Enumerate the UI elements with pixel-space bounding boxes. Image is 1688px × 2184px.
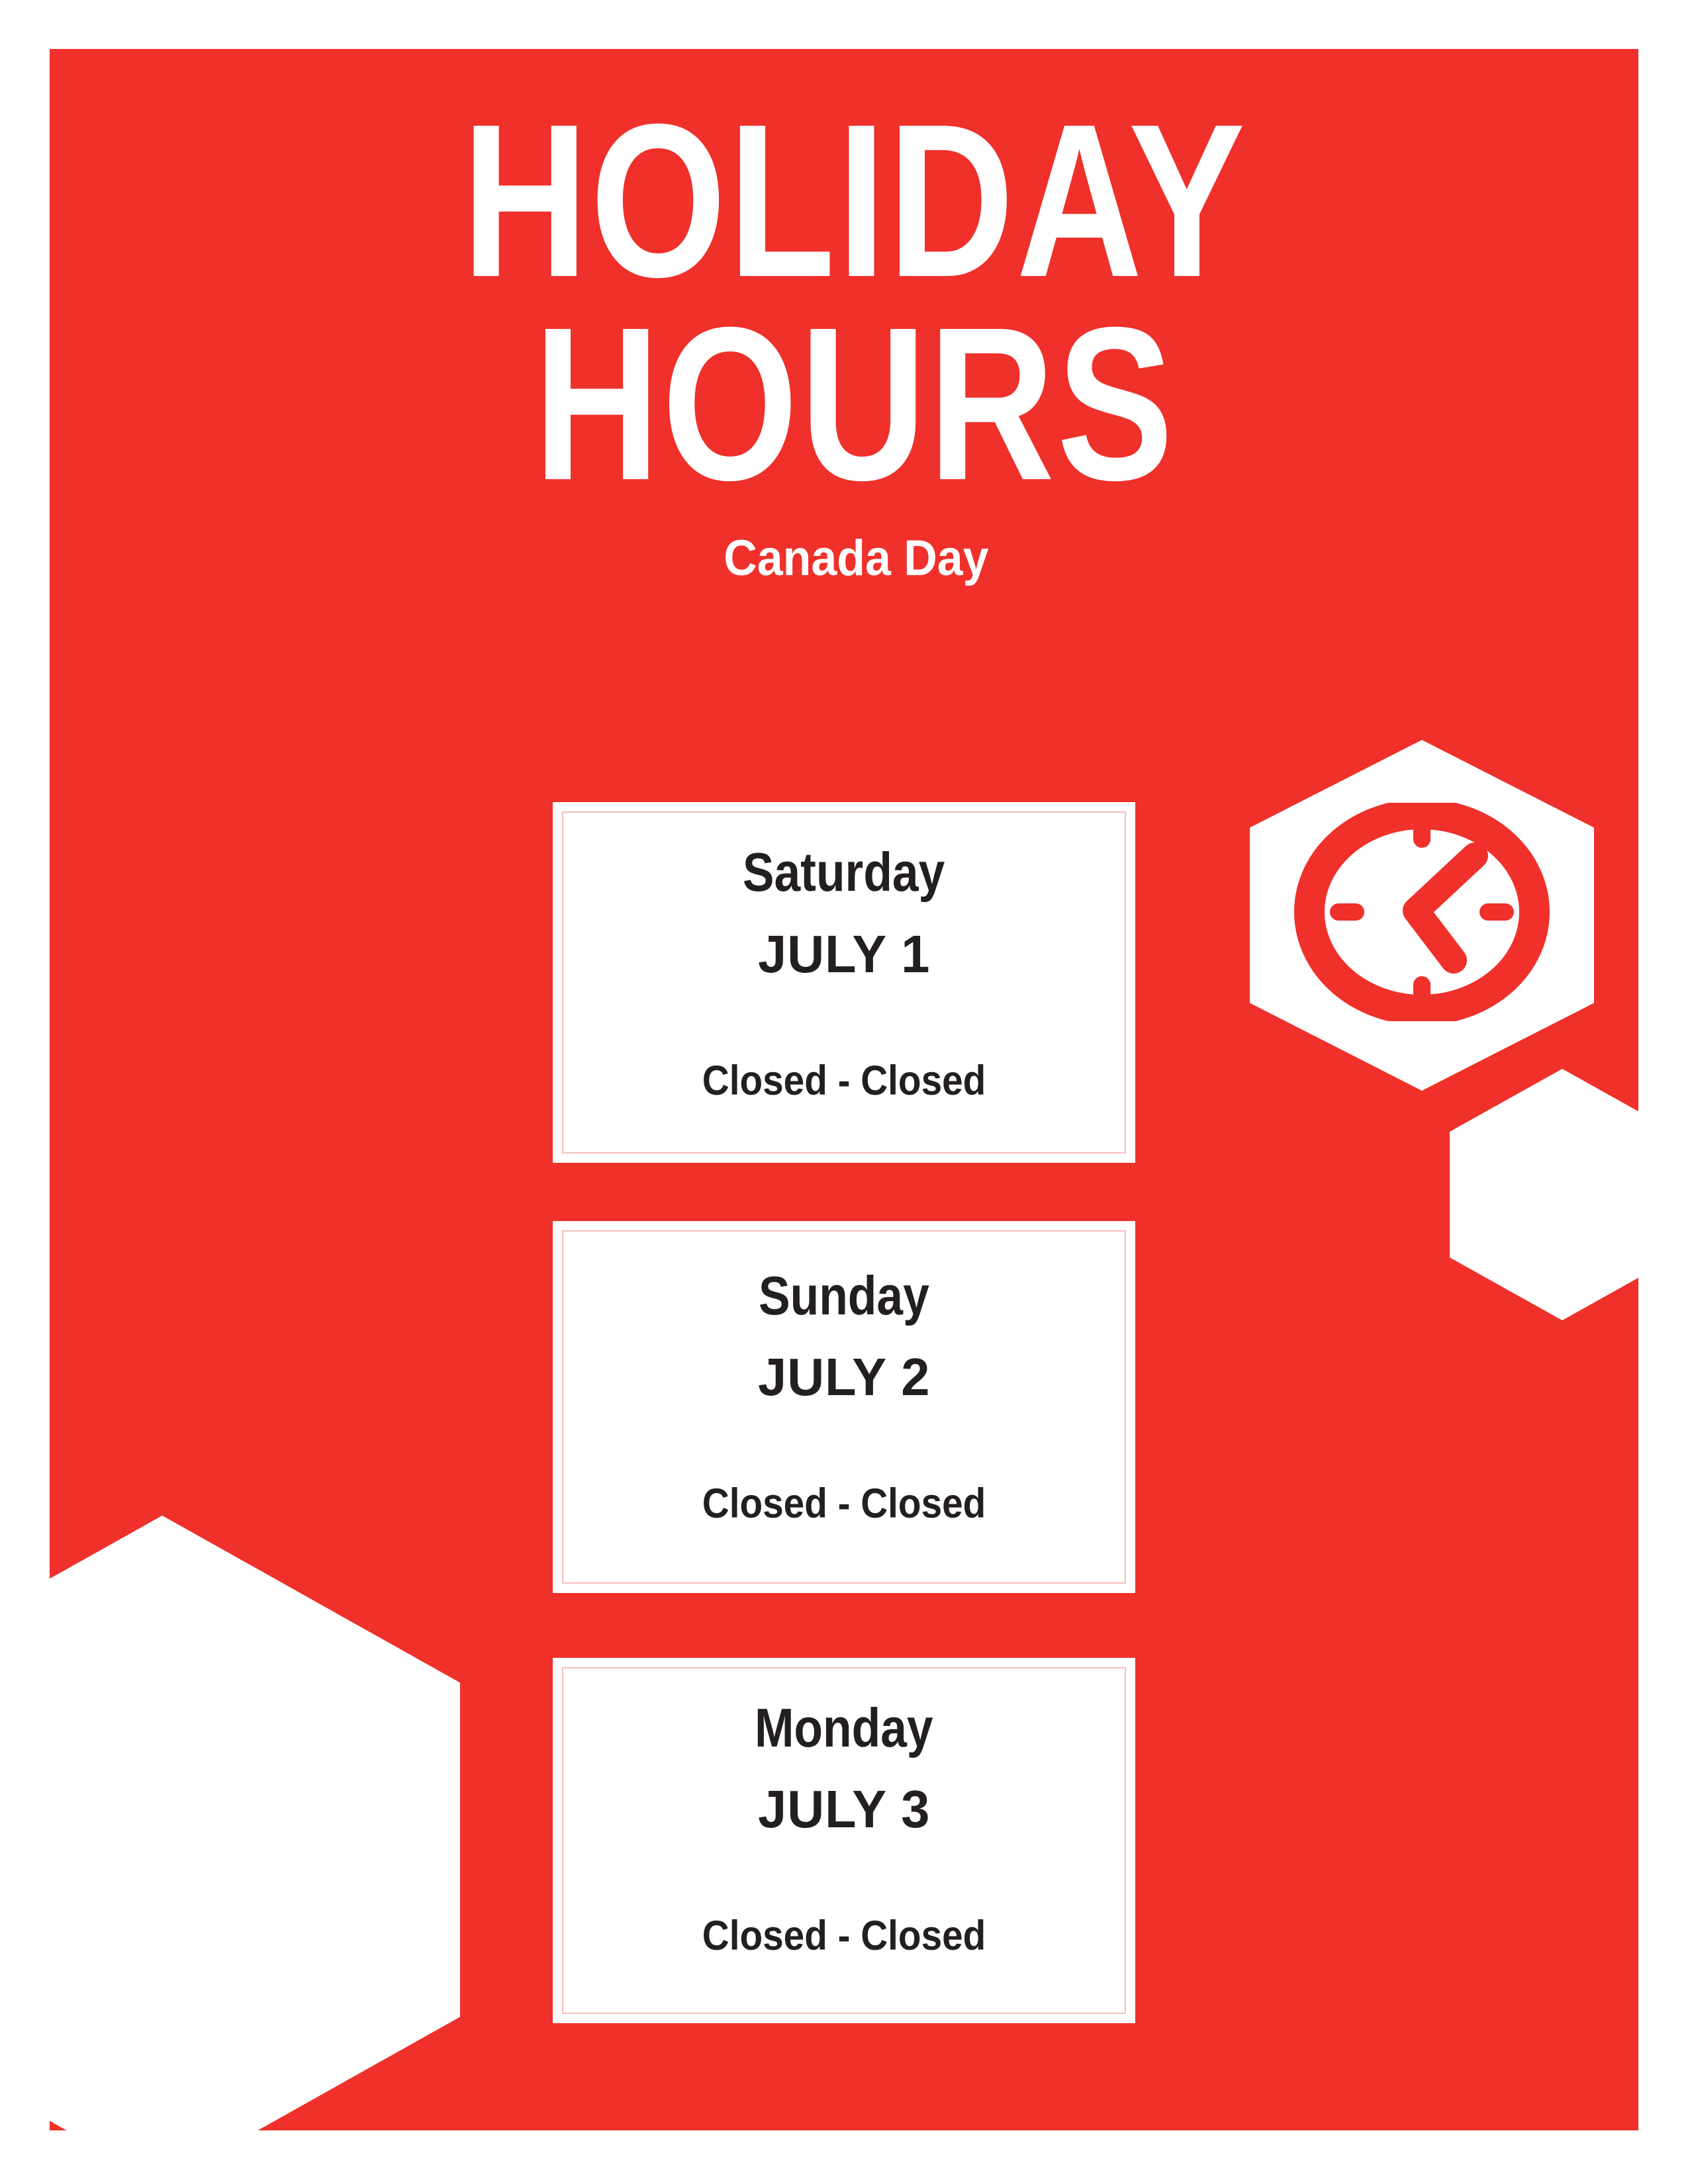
schedule-hours-label: Closed - Closed: [702, 1060, 986, 1102]
schedule-card: Saturday JULY 1 Closed - Closed: [553, 802, 1135, 1163]
schedule-card-inner: Saturday JULY 1 Closed - Closed: [562, 811, 1126, 1154]
schedule-date-label: JULY 2: [758, 1351, 930, 1404]
schedule-card: Monday JULY 3 Closed - Closed: [553, 1658, 1135, 2023]
poster-header: HOLIDAY HOURS Canada Day: [50, 99, 1638, 584]
schedule-date-label: JULY 1: [758, 928, 930, 981]
schedule-hours-label: Closed - Closed: [702, 1483, 986, 1525]
schedule-day-label: Saturday: [743, 844, 945, 899]
holiday-hours-poster: HOLIDAY HOURS Canada Day Saturday JULY 1…: [0, 0, 1688, 2184]
schedule-card: Sunday JULY 2 Closed - Closed: [553, 1221, 1135, 1593]
page-title-line-1: HOLIDAY: [209, 99, 1479, 302]
schedule-day-label: Monday: [755, 1700, 933, 1755]
page-title-line-2: HOURS: [209, 302, 1479, 506]
clock-icon: [1293, 803, 1551, 1021]
schedule-card-inner: Sunday JULY 2 Closed - Closed: [562, 1230, 1126, 1584]
schedule-day-label: Sunday: [759, 1268, 929, 1323]
schedule-date-label: JULY 3: [758, 1783, 930, 1836]
schedule-hours-label: Closed - Closed: [702, 1915, 986, 1957]
schedule-card-inner: Monday JULY 3 Closed - Closed: [562, 1667, 1126, 2014]
poster-subtitle: Canada Day: [113, 533, 1575, 584]
clock-badge: [1250, 740, 1594, 1091]
